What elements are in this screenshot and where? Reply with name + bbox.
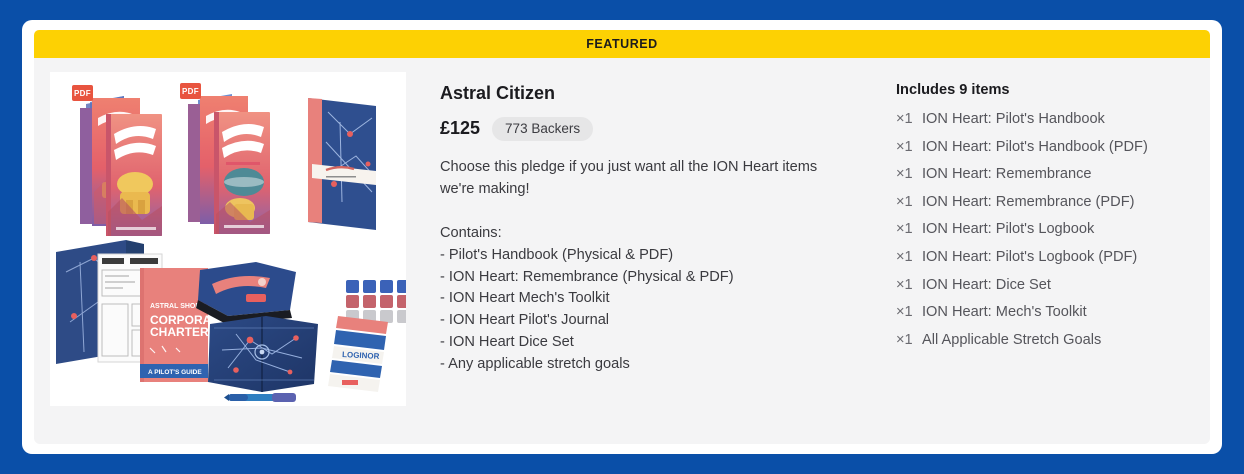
include-item: ×1 ION Heart: Remembrance [896,167,1194,182]
contains-item: - Any applicable stretch goals [440,354,846,376]
pilots-handbook-books [80,96,162,236]
dice-tray [196,262,296,324]
include-qty: ×1 [896,222,922,237]
contains-item: - ION Heart Mech's Toolkit [440,288,846,310]
pdf-badge-icon: PDF [72,85,93,101]
dice-set [346,280,406,323]
product-illustration: ASTRAL SHORE CORPORATE CHARTER A PILOT'S… [50,72,406,406]
reward-body: ASTRAL SHORE CORPORATE CHARTER A PILOT'S… [34,58,1210,444]
pdf-badge-icon: PDF [180,83,201,99]
branded-pen [224,393,296,402]
include-name: ION Heart: Mech's Toolkit [922,305,1087,320]
include-qty: ×1 [896,278,922,293]
fold-out-star-map [208,316,318,392]
pledge-description: Choose this pledge if you just want all … [440,157,842,201]
featured-banner: FEATURED [34,30,1210,58]
include-item: ×1 ION Heart: Pilot's Handbook [896,112,1194,127]
includes-title: Includes 9 items [896,82,1194,98]
includes-column: Includes 9 items ×1 ION Heart: Pilot's H… [846,72,1194,444]
include-qty: ×1 [896,195,922,210]
contains-block: Contains: - Pilot's Handbook (Physical &… [440,223,846,376]
include-name: ION Heart: Remembrance [922,167,1092,182]
page-root: FEATURED [0,0,1244,474]
include-qty: ×1 [896,112,922,127]
include-item: ×1 All Applicable Stretch Goals [896,333,1194,348]
contains-item: - Pilot's Handbook (Physical & PDF) [440,245,846,267]
contains-item: - ION Heart Pilot's Journal [440,310,846,332]
include-name: ION Heart: Dice Set [922,278,1051,293]
include-item: ×1 ION Heart: Pilot's Handbook (PDF) [896,140,1194,155]
featured-banner-label: FEATURED [586,38,658,51]
contains-item: - ION Heart: Remembrance (Physical & PDF… [440,267,846,289]
include-item: ×1 ION Heart: Mech's Toolkit [896,305,1194,320]
reward-card[interactable]: FEATURED [22,20,1222,454]
include-name: ION Heart: Pilot's Handbook (PDF) [922,140,1148,155]
svg-text:A PILOT'S GUIDE: A PILOT'S GUIDE [148,369,202,376]
pledge-price: £125 [440,118,480,139]
include-name: ION Heart: Pilot's Handbook [922,112,1105,127]
include-qty: ×1 [896,140,922,155]
include-item: ×1 ION Heart: Pilot's Logbook [896,222,1194,237]
include-qty: ×1 [896,167,922,182]
remembrance-books [188,94,270,234]
pilots-journal-notebook [308,98,376,230]
price-row: £125 773 Backers [440,117,846,142]
include-qty: ×1 [896,333,922,348]
include-name: All Applicable Stretch Goals [922,333,1101,348]
pledge-title: Astral Citizen [440,82,846,105]
pledge-info: Astral Citizen £125 773 Backers Choose t… [406,72,846,444]
contains-item: - ION Heart Dice Set [440,332,846,354]
include-item: ×1 ION Heart: Dice Set [896,278,1194,293]
include-name: ION Heart: Pilot's Logbook [922,222,1094,237]
include-qty: ×1 [896,250,922,265]
reference-card-fan: LOGINOR [328,316,388,392]
include-qty: ×1 [896,305,922,320]
contains-heading: Contains: [440,223,846,245]
include-name: ION Heart: Pilot's Logbook (PDF) [922,250,1137,265]
svg-text:CHARTER: CHARTER [150,325,209,339]
include-item: ×1 ION Heart: Pilot's Logbook (PDF) [896,250,1194,265]
include-item: ×1 ION Heart: Remembrance (PDF) [896,195,1194,210]
include-name: ION Heart: Remembrance (PDF) [922,195,1134,210]
product-image[interactable]: ASTRAL SHORE CORPORATE CHARTER A PILOT'S… [50,72,406,406]
product-artwork: ASTRAL SHORE CORPORATE CHARTER A PILOT'S… [50,72,406,406]
backers-badge: 773 Backers [492,117,593,142]
